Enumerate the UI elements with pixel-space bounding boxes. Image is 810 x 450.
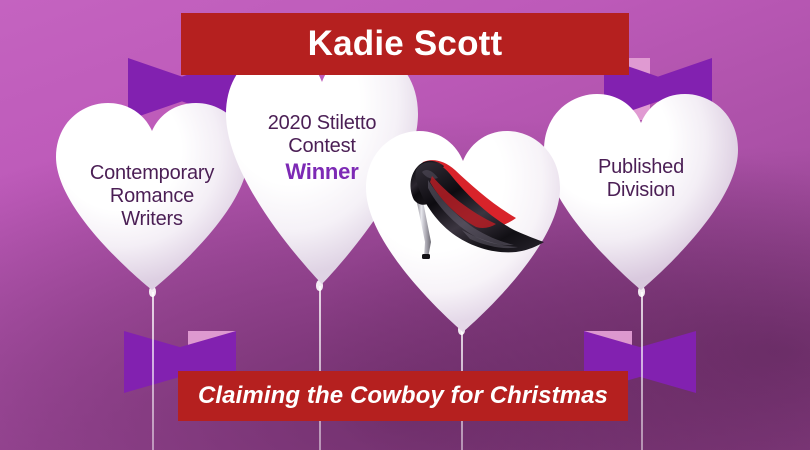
heart-line: Contemporary — [90, 162, 214, 184]
poster-canvas: Contemporary Romance Writers 2020 Stilet… — [0, 0, 810, 450]
heart-line: Published — [598, 156, 684, 178]
balloon-string-1 — [152, 292, 154, 450]
heart-balloon-published-division[interactable]: Published Division — [540, 90, 742, 292]
book-title-banner: Claiming the Cowboy for Christmas — [178, 371, 628, 421]
heart-line: Contest — [288, 135, 356, 157]
heart-balloon-stiletto-image[interactable] — [362, 128, 564, 334]
title-banner: Kadie Scott — [181, 13, 629, 75]
heart-line: Writers — [121, 208, 183, 230]
balloon-string-4 — [641, 292, 643, 450]
book-title: Claiming the Cowboy for Christmas — [198, 382, 608, 410]
balloon-string-2 — [319, 286, 321, 450]
stiletto-shoe-icon — [392, 146, 552, 276]
heart-line: Division — [607, 179, 675, 201]
heart-line: 2020 Stiletto — [268, 112, 377, 134]
author-name: Kadie Scott — [308, 24, 503, 64]
heart-label-4: Published Division — [540, 156, 742, 202]
heart-line: Romance — [110, 185, 194, 207]
